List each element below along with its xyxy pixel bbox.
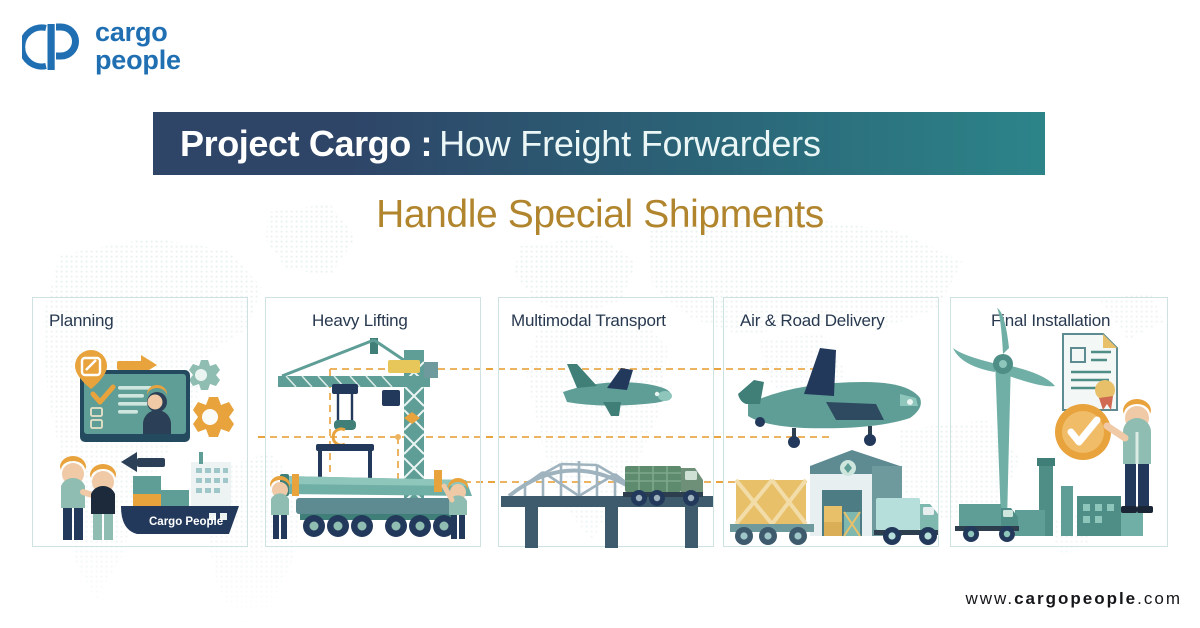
title-bold: Project Cargo :	[180, 123, 432, 165]
check-badge-icon	[1055, 404, 1111, 460]
flatbed-truck-icon	[955, 504, 1019, 542]
process-panel-strip: Planning	[0, 297, 1200, 547]
title-banner: Project Cargo : How Freight Forwarders	[153, 112, 1045, 175]
factory-icon	[1015, 458, 1143, 536]
panel-air-road-delivery[interactable]: Air & Road Delivery	[723, 297, 939, 547]
url-tld: .com	[1137, 589, 1182, 608]
certificate-icon	[1063, 334, 1117, 410]
website-url[interactable]: www.cargopeople.com	[965, 589, 1182, 609]
panel-heavy-lifting[interactable]: Heavy Lifting	[265, 297, 481, 547]
arrow-left-icon	[121, 452, 165, 472]
cargo-truck-icon	[623, 466, 703, 506]
url-prefix: www.	[965, 589, 1014, 608]
cargo-plane-icon	[738, 348, 921, 448]
airplane-icon	[563, 364, 672, 416]
panel-planning[interactable]: Planning	[32, 297, 248, 547]
cp-monogram-icon	[22, 16, 84, 78]
title-light: How Freight Forwarders	[432, 123, 821, 165]
gear-icon	[193, 397, 234, 437]
ship-label: Cargo People	[149, 516, 223, 528]
panel-final-installation[interactable]: Final Installation	[950, 297, 1168, 547]
brand-logo[interactable]: cargo people	[22, 16, 181, 78]
page-subtitle: Handle Special Shipments	[0, 193, 1200, 237]
gear-icon	[189, 360, 220, 390]
delivery-truck-icon	[874, 498, 938, 545]
worker-icon	[1107, 399, 1153, 513]
logo-word-line1: cargo	[95, 19, 181, 47]
logo-word-line2: people	[95, 47, 181, 75]
url-name: cargopeople	[1014, 589, 1137, 608]
logo-wordmark: cargo people	[95, 19, 181, 74]
multi-axle-trailer-icon	[296, 498, 458, 537]
turbine-blade-icon	[280, 470, 472, 496]
crate-trailer-icon	[730, 480, 814, 545]
panel-multimodal-transport[interactable]: Multimodal Transport	[498, 297, 714, 547]
poster-canvas: cargo people Project Cargo : How Freight…	[0, 0, 1200, 628]
worker-icon	[90, 464, 116, 540]
